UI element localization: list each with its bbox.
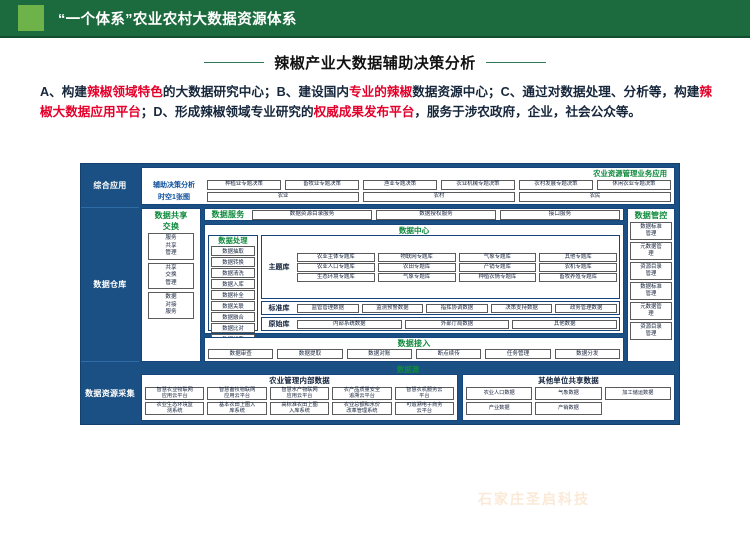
share-box[interactable]: 服务 共享 管理 <box>148 233 194 260</box>
app-chip[interactable]: 农村发展专题决策 <box>519 180 593 190</box>
internal-data-row: 智慧农业物联网 应用云平台 智慧畜牧物联网 应用云平台 智慧水产物联网 应用云平… <box>145 387 454 400</box>
intro-text-3: 数据资源中心；C、通过对数据处理、分析等，构建 <box>412 85 699 99</box>
data-center-title: 数据中心 <box>208 226 620 235</box>
external-chip[interactable]: 农业人口数据 <box>466 387 532 400</box>
section-rule-left <box>204 62 264 63</box>
intro-text-2: 的大数据研究中心；B、建设国内 <box>163 85 349 99</box>
internal-chip[interactable]: 智慧水产物联网 应用云平台 <box>270 387 329 400</box>
data-ingest-title: 数据接入 <box>208 339 620 348</box>
raw-library-row: 内部系统数据 外部厅局数据 其他数据 <box>297 320 617 329</box>
topic-chip[interactable]: 农田专题库 <box>378 263 456 272</box>
internal-chip[interactable]: 农业总额和水价 改革管理系统 <box>332 402 391 415</box>
internal-chip[interactable]: 智慧农业物联网 应用云平台 <box>145 387 204 400</box>
data-governance-title: 数据管控 <box>635 211 668 220</box>
data-governance-panel: 数据管控 数据标准 管理 元数据管 理 资源目录 管理 数据标准 管理 元数据管… <box>627 208 675 362</box>
standard-library: 标准库 监管管理数据 监测预警数据 指挥协调数据 决策支持数据 政务管理数据 <box>261 301 620 315</box>
header-accent-square <box>18 5 44 31</box>
sidebar-item-comprehensive-application: 综合应用 <box>81 164 139 208</box>
internal-chip[interactable]: 基本农田上图入 库系统 <box>207 402 266 415</box>
topic-library-label: 主题库 <box>264 262 294 272</box>
section-title: 辣椒产业大数据辅助决策分析 <box>274 52 476 73</box>
topic-library-grid: 农业主体专题库 物联网专题库 气象专题库 其他专题库 农业人口专题库 农田专题库… <box>297 253 617 282</box>
ingest-chip[interactable]: 数据审查 <box>208 349 273 359</box>
topic-chip[interactable]: 气象专题库 <box>459 253 537 262</box>
app-chip[interactable]: 渔业专题决策 <box>363 180 437 190</box>
external-chip[interactable]: 加工储运数据 <box>605 387 671 400</box>
section-rule-right <box>486 62 546 63</box>
topic-chip[interactable]: 农机专题库 <box>539 263 617 272</box>
governance-item[interactable]: 数据标准 管理 <box>630 282 672 300</box>
app-chip[interactable]: 畜牧业专题决策 <box>285 180 359 190</box>
external-chip[interactable]: 产业数据 <box>466 402 532 415</box>
app-chip[interactable]: 农村 <box>363 192 515 202</box>
data-source-title: 数据源 <box>141 365 675 374</box>
intro-highlight-2: 专业的辣椒 <box>349 85 412 99</box>
spatiotemporal-map-label: 时空1张图 <box>145 192 203 202</box>
intro-highlight-1: 辣椒领域特色 <box>87 85 163 99</box>
page-header: “一个体系”农业农村大数据资源体系 <box>0 0 750 36</box>
internal-chip[interactable]: 智慧农机服务云 平台 <box>395 387 454 400</box>
standard-library-grid: 监管管理数据 监测预警数据 指挥协调数据 决策支持数据 政务管理数据 <box>297 304 617 313</box>
page-title: “一个体系”农业农村大数据资源体系 <box>58 8 297 29</box>
intro-text-4: ；D、形成辣椒领域专业研究的 <box>141 105 314 119</box>
ingest-chip[interactable]: 数据分发 <box>555 349 620 359</box>
header-divider <box>0 36 750 38</box>
data-source-region: 数据源 农业管理内部数据 智慧农业物联网 应用云平台 智慧畜牧物联网 应用云平台… <box>141 365 675 421</box>
data-share-title-line1: 数据共享 <box>155 211 188 220</box>
standard-chip[interactable]: 监管管理数据 <box>297 304 359 313</box>
standard-chip[interactable]: 决策支持数据 <box>491 304 553 313</box>
data-share-exchange-panel: 数据共享 交换 服务 共享 管理 共享 交换 管理 数据 对接 服务 <box>141 208 201 362</box>
internal-chip[interactable]: 智慧畜牧物联网 应用云平台 <box>207 387 266 400</box>
diagram-sidebar: 综合应用 数据仓库 数据资源采集 <box>81 164 139 424</box>
intro-paragraph: A、构建辣椒领域特色的大数据研究中心；B、建设国内专业的辣椒数据资源中心；C、通… <box>40 82 712 122</box>
ingest-chip[interactable]: 数据对账 <box>347 349 412 359</box>
ingest-chip[interactable]: 数据提取 <box>277 349 342 359</box>
sidebar-item-data-warehouse: 数据仓库 <box>81 208 139 362</box>
ingest-chip[interactable]: 断点续传 <box>416 349 481 359</box>
standard-library-row: 监管管理数据 监测预警数据 指挥协调数据 决策支持数据 政务管理数据 <box>297 304 617 313</box>
topic-library-row: 农业人口专题库 农田专题库 产销专题库 农机专题库 <box>297 263 617 272</box>
database-libraries: 主题库 农业主体专题库 物联网专题库 气象专题库 其他专题库 <box>261 235 620 331</box>
topic-library-row: 生态环境专题库 气象专题库 种植农情专题库 畜牧养殖专题库 <box>297 273 617 282</box>
decision-analysis-label: 辅助决策分析 <box>145 180 203 190</box>
external-chip[interactable]: 产销数据 <box>535 402 601 415</box>
raw-chip[interactable]: 其他数据 <box>512 320 617 329</box>
intro-text-1: A、构建 <box>40 85 87 99</box>
decision-analysis-row: 辅助决策分析 种植业专题决策 畜牧业专题决策 渔业专题决策 农业机械专题决策 农… <box>145 179 671 190</box>
topic-chip[interactable]: 生态环境专题库 <box>297 273 375 282</box>
standard-chip[interactable]: 政务管理数据 <box>555 304 617 313</box>
raw-chip[interactable]: 内部系统数据 <box>297 320 402 329</box>
section-title-row: 辣椒产业大数据辅助决策分析 <box>0 52 750 73</box>
topic-chip[interactable]: 其他专题库 <box>539 253 617 262</box>
ingest-chip[interactable]: 任务管理 <box>485 349 550 359</box>
data-center-body: 数据处理 数据抽取 数据转换 数据清洗 数据入库 数据补全 数据关联 数据融合 … <box>208 235 620 331</box>
data-service-panel: 数据服务 数据资源目录服务 数据授权服务 接口服务 <box>204 208 624 221</box>
intro-highlight-4: 权威成果发布平台 <box>314 105 415 119</box>
app-chip[interactable]: 种植业专题决策 <box>207 180 281 190</box>
data-center-column: 数据服务 数据资源目录服务 数据授权服务 接口服务 数据中心 数据处理 数据抽取… <box>204 208 624 362</box>
raw-chip[interactable]: 外部厅局数据 <box>405 320 510 329</box>
topic-chip[interactable]: 气象专题库 <box>378 273 456 282</box>
processing-item[interactable]: 数据补全 <box>211 290 255 300</box>
topic-library-row: 农业主体专题库 物联网专题库 气象专题库 其他专题库 <box>297 253 617 262</box>
raw-library-grid: 内部系统数据 外部厅局数据 其他数据 <box>297 320 617 329</box>
standard-chip[interactable]: 指挥协调数据 <box>426 304 488 313</box>
processing-item[interactable]: 数据融合 <box>211 312 255 322</box>
data-share-title-line2: 交换 <box>163 222 179 231</box>
topic-library: 主题库 农业主体专题库 物联网专题库 气象专题库 其他专题库 <box>261 235 620 299</box>
app-chip[interactable]: 休闲农业专题决策 <box>597 180 671 190</box>
external-data-title: 其他单位共享数据 <box>466 376 671 385</box>
data-ingest-row: 数据审查 数据提取 数据对账 断点续传 任务管理 数据分发 <box>208 349 620 359</box>
topic-chip[interactable]: 农业人口专题库 <box>297 263 375 272</box>
spatiotemporal-map-row: 时空1张图 农业 农村 农民 <box>145 191 671 202</box>
processing-item[interactable]: 数据入库 <box>211 279 255 289</box>
internal-chip[interactable]: 农业生态环境监 测系统 <box>145 402 204 415</box>
watermark: 石家庄圣启科技 <box>478 489 590 509</box>
external-chip[interactable]: 气象数据 <box>535 387 601 400</box>
data-processing-panel: 数据处理 数据抽取 数据转换 数据清洗 数据入库 数据补全 数据关联 数据融合 … <box>208 235 258 331</box>
topic-chip[interactable]: 畜牧养殖专题库 <box>539 273 617 282</box>
application-layer-panel: 农业资源管理业务应用 辅助决策分析 种植业专题决策 畜牧业专题决策 渔业专题决策… <box>141 167 675 205</box>
governance-item[interactable]: 资源目录 管理 <box>630 262 672 280</box>
data-warehouse-region: 数据共享 交换 服务 共享 管理 共享 交换 管理 数据 对接 服务 数据服务 … <box>141 208 675 362</box>
data-service-chip[interactable]: 数据资源目录服务 <box>252 210 372 220</box>
intro-text-5: ，服务于涉农政府，企业，社会公众等。 <box>414 105 641 119</box>
data-service-chip[interactable]: 数据授权服务 <box>376 210 496 220</box>
data-service-title: 数据服务 <box>208 209 248 220</box>
internal-data-title: 农业管理内部数据 <box>145 376 454 385</box>
external-data-panel: 其他单位共享数据 农业人口数据 气象数据 加工储运数据 产业数据 产销数据 <box>462 374 675 421</box>
app-chip[interactable]: 农业 <box>207 192 359 202</box>
diagram-body: 农业资源管理业务应用 辅助决策分析 种植业专题决策 畜牧业专题决策 渔业专题决策… <box>139 164 679 424</box>
data-service-chip[interactable]: 接口服务 <box>500 210 620 220</box>
processing-item[interactable]: 数据清洗 <box>211 268 255 278</box>
external-data-row: 产业数据 产销数据 <box>466 402 671 415</box>
processing-item[interactable]: 数据转换 <box>211 257 255 267</box>
internal-chip[interactable]: 高标准农田上图 入库系统 <box>270 402 329 415</box>
standard-chip[interactable]: 监测预警数据 <box>362 304 424 313</box>
sidebar-item-data-collection: 数据资源采集 <box>81 362 139 424</box>
app-chip[interactable]: 农业机械专题决策 <box>441 180 515 190</box>
data-ingest-panel: 数据接入 数据审查 数据提取 数据对账 断点续传 任务管理 数据分发 <box>204 337 624 362</box>
topic-chip[interactable]: 种植农情专题库 <box>459 273 537 282</box>
processing-item[interactable]: 数据抽取 <box>211 246 255 256</box>
internal-data-row: 农业生态环境监 测系统 基本农田上图入 库系统 高标准农田上图 入库系统 农业总… <box>145 402 454 415</box>
processing-item[interactable]: 数据关联 <box>211 301 255 311</box>
governance-item[interactable]: 元数据管 理 <box>630 242 672 260</box>
topic-chip[interactable]: 农业主体专题库 <box>297 253 375 262</box>
data-center-panel: 数据中心 数据处理 数据抽取 数据转换 数据清洗 数据入库 数据补全 数据关联 … <box>204 224 624 334</box>
standard-library-label: 标准库 <box>264 303 294 313</box>
governance-item[interactable]: 数据标准 管理 <box>630 222 672 240</box>
internal-chip[interactable]: 农产品质量安全 追溯云平台 <box>332 387 391 400</box>
data-source-body: 农业管理内部数据 智慧农业物联网 应用云平台 智慧畜牧物联网 应用云平台 智慧水… <box>141 374 675 421</box>
raw-library: 原始库 内部系统数据 外部厅局数据 其他数据 <box>261 317 620 331</box>
raw-library-label: 原始库 <box>264 319 294 329</box>
internal-data-panel: 农业管理内部数据 智慧农业物联网 应用云平台 智慧畜牧物联网 应用云平台 智慧水… <box>141 374 458 421</box>
external-data-row: 农业人口数据 气象数据 加工储运数据 <box>466 387 671 400</box>
share-box[interactable]: 数据 对接 服务 <box>148 292 194 319</box>
governance-item[interactable]: 元数据管 理 <box>630 302 672 320</box>
processing-item[interactable]: 数据比对 <box>211 323 255 333</box>
internal-chip[interactable]: 可追溯电子商务 云平台 <box>395 402 454 415</box>
application-layer-heading: 农业资源管理业务应用 <box>145 170 671 178</box>
data-processing-title: 数据处理 <box>218 236 248 245</box>
share-box[interactable]: 共享 交换 管理 <box>148 263 194 290</box>
governance-item[interactable]: 资源目录 管理 <box>630 322 672 340</box>
app-chip[interactable]: 农民 <box>519 192 671 202</box>
architecture-diagram: 综合应用 数据仓库 数据资源采集 农业资源管理业务应用 辅助决策分析 种植业专题… <box>80 163 680 425</box>
topic-chip[interactable]: 物联网专题库 <box>378 253 456 262</box>
topic-chip[interactable]: 产销专题库 <box>459 263 537 272</box>
